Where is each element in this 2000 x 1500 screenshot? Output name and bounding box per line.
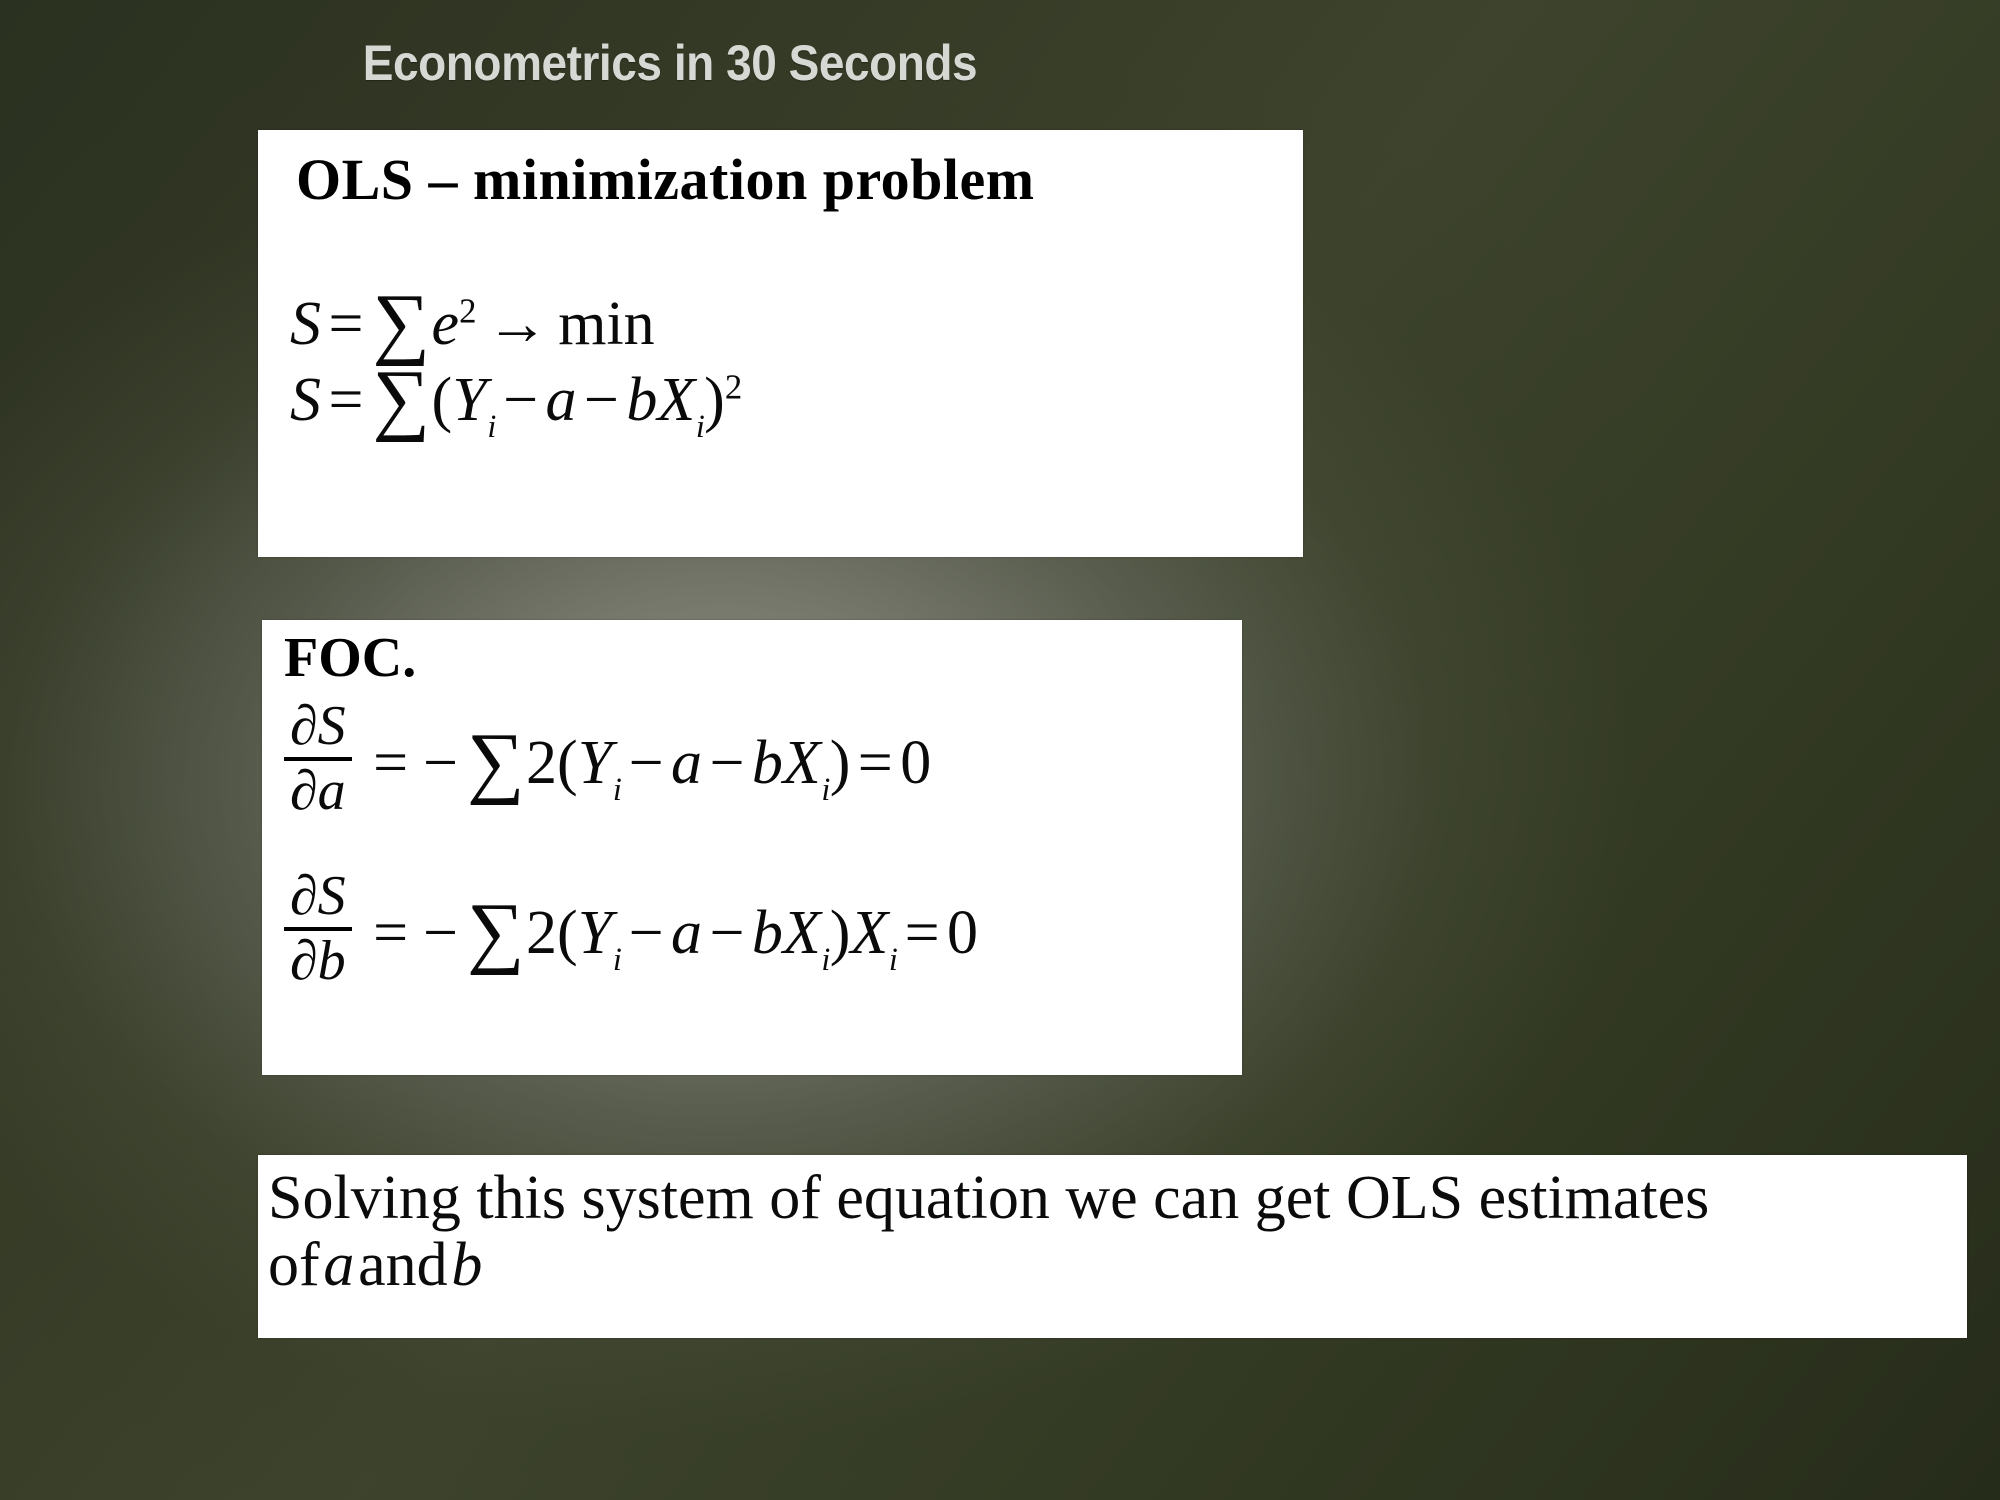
slide-canvas: Econometrics in 30 Seconds OLS – minimiz… [0,0,2000,1500]
summation-sign: ∑ [465,717,526,806]
foc2-X-subscript: i [821,941,830,977]
solving-statement-line-1: Solving this system of equation we can g… [268,1165,1958,1232]
eq2-a: a [545,366,576,434]
foc1-b: b [752,729,783,797]
eq2-open-paren: ( [432,366,453,434]
solving-statement-line-2: ofaandb [268,1232,1958,1299]
eq2-Y: Y [452,366,486,434]
eq1-lhs: S [290,290,321,358]
panel-solving-statement: Solving this system of equation we can g… [258,1155,1967,1338]
foc1-Y: Y [578,729,612,797]
foc1-equals-2: = [850,729,900,797]
solve-variable-a: a [320,1231,358,1299]
foc2-result: 0 [947,899,978,967]
foc1-minus-2: − [702,729,752,797]
foc2-open-paren: ( [557,899,578,967]
eq2-close-paren: ) [704,366,725,434]
foc1-X-subscript: i [821,771,830,807]
eq1-term: e [432,290,460,358]
solving-statement-text: Solving this system of equation we can g… [268,1165,1958,1299]
eq2-X: X [657,366,695,434]
eq2-exponent: 2 [725,367,742,406]
foc2-trailing-factor-subscript: i [889,941,898,977]
foc1-close-paren: ) [830,729,851,797]
foc2-body: =−∑2(Yi−a−bXi)Xi=0 [366,887,978,972]
foc1-coefficient: 2 [526,729,557,797]
ols-heading: OLS – minimization problem [296,146,1035,213]
foc1-X: X [783,729,821,797]
eq1-rhs: min [558,290,654,358]
right-arrow-icon: → [476,290,558,358]
foc2-minus-1: − [621,899,671,967]
summation-sign: ∑ [371,354,432,443]
equation-partial-s-partial-a: ∂S ∂a =−∑2(Yi−a−bXi)=0 [284,698,931,820]
foc1-Y-subscript: i [613,771,622,807]
foc2-close-paren: ) [830,899,851,967]
foc2-equals-2: = [897,899,947,967]
foc2-a: a [671,899,702,967]
solve-and-word: and [358,1231,448,1299]
eq1-exponent: 2 [459,291,476,330]
summation-sign: ∑ [465,887,526,976]
foc1-negative: − [416,729,466,797]
fraction-partial-s-partial-a: ∂S ∂a [284,698,352,820]
eq1-equals: = [321,290,371,358]
panel-ols-minimization: OLS – minimization problem S=∑e2→min S=∑… [258,130,1303,557]
foc2-denominator: ∂b [284,933,352,990]
foc2-equals-1: = [366,899,416,967]
foc1-a: a [671,729,702,797]
foc2-numerator: ∂S [284,868,352,925]
foc2-coefficient: 2 [526,899,557,967]
page-title: Econometrics in 30 Seconds [54,34,1287,92]
foc2-negative: − [416,899,466,967]
eq2-minus-2: − [576,366,626,434]
foc2-Y: Y [578,899,612,967]
foc1-open-paren: ( [557,729,578,797]
foc2-X: X [783,899,821,967]
foc1-result: 0 [900,729,931,797]
foc2-b: b [752,899,783,967]
foc1-minus-1: − [621,729,671,797]
eq2-b: b [626,366,657,434]
equation-partial-s-partial-b: ∂S ∂b =−∑2(Yi−a−bXi)Xi=0 [284,868,978,990]
foc2-minus-2: − [702,899,752,967]
foc2-Y-subscript: i [613,941,622,977]
solve-of-word: of [268,1231,320,1299]
equation-s-sum-residual-squared: S=∑(Yi−a−bXi)2 [290,354,742,439]
foc-heading: FOC. [284,626,416,690]
eq2-lhs: S [290,366,321,434]
eq2-equals: = [321,366,371,434]
solve-variable-b: b [448,1231,486,1299]
foc1-equals-1: = [366,729,416,797]
foc2-trailing-factor: X [850,899,888,967]
eq2-X-subscript: i [696,408,705,444]
foc1-denominator: ∂a [284,763,352,820]
eq2-Y-subscript: i [487,408,496,444]
foc1-body: =−∑2(Yi−a−bXi)=0 [366,717,932,802]
panel-foc: FOC. ∂S ∂a =−∑2(Yi−a−bXi)=0 ∂S ∂b =−∑2(Y… [262,620,1242,1075]
equation-s-sum-e-squared: S=∑e2→min [290,278,655,359]
fraction-partial-s-partial-b: ∂S ∂b [284,868,352,990]
foc1-numerator: ∂S [284,698,352,755]
eq2-minus-1: − [496,366,546,434]
